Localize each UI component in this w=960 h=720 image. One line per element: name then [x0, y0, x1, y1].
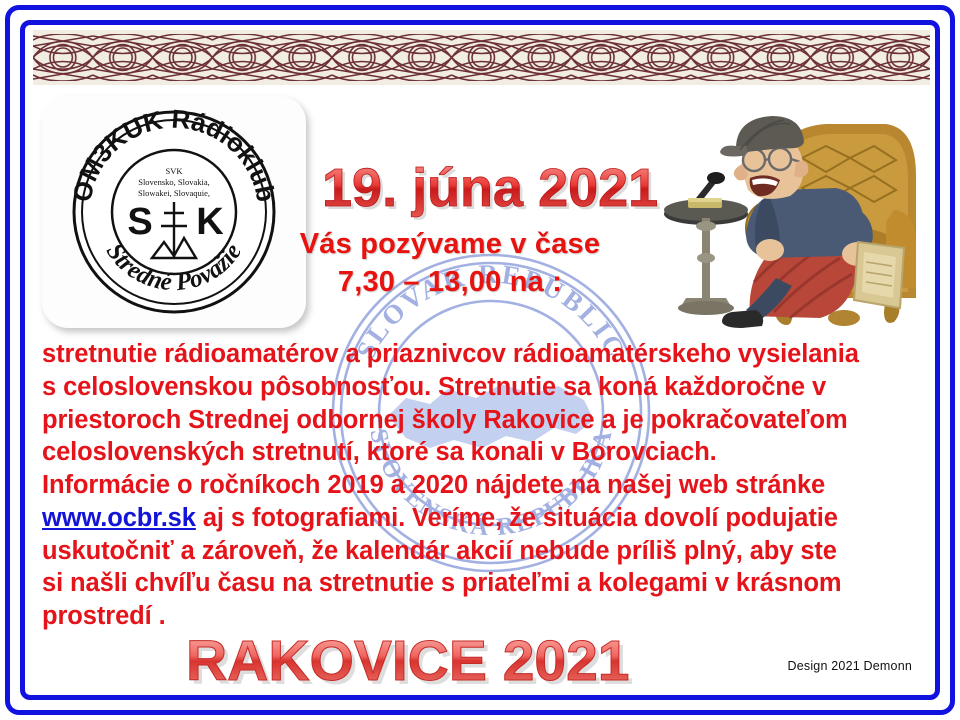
body-line: uskutočniť a zároveň, že kalendár akcií …	[42, 535, 930, 568]
body-text-segment: si našli chvíľu času na stretnutie s pri…	[42, 569, 842, 597]
svg-text:SVK: SVK	[165, 166, 183, 176]
body-text-segment: s celoslovenskou pôsobnosťou. Stretnutie…	[42, 373, 826, 401]
website-link[interactable]: www.ocbr.sk	[42, 504, 196, 532]
ornamental-border-band	[33, 30, 930, 85]
invitation-time-text: Vás pozývame v čase 7,30 – 13,00 na :	[190, 226, 710, 301]
event-name-title: RAKOVICE 2021 RAKOVICE 2021	[180, 628, 800, 690]
svg-text:RAKOVICE 2021: RAKOVICE 2021	[186, 629, 630, 690]
body-line: celoslovenských stretnutí, ktoré sa kona…	[42, 436, 930, 469]
svg-text:Slovensko, Slovakia,: Slovensko, Slovakia,	[138, 177, 210, 187]
body-text-segment: Informácie o ročníkoch 2019 a 2020 nájde…	[42, 471, 825, 499]
body-text-segment: prostredí .	[42, 602, 166, 630]
event-description-text: stretnutie rádioamatérov a priaznivcov r…	[42, 338, 930, 633]
body-text-segment: stretnutie rádioamatérov a priaznivcov r…	[42, 340, 859, 368]
poster-root: OM3KUK Rádioklub Stredné Považie SVK Slo…	[0, 0, 960, 720]
body-line: si našli chvíľu času na stretnutie s pri…	[42, 567, 930, 600]
body-text-segment: uskutočniť a zároveň, že kalendár akcií …	[42, 537, 837, 565]
svg-text:S: S	[127, 201, 152, 243]
armchair-radio-amateur-illustration	[650, 102, 930, 342]
body-line: www.ocbr.sk aj s fotografiami. Veríme, ž…	[42, 502, 930, 535]
body-text-segment: aj s fotografiami. Veríme, že situácia d…	[196, 504, 838, 532]
svg-text:19. júna 2021: 19. júna 2021	[322, 158, 658, 218]
poster-canvas: OM3KUK Rádioklub Stredné Považie SVK Slo…	[30, 30, 930, 690]
body-text-segment: celoslovenských stretnutí, ktoré sa kona…	[42, 438, 717, 466]
design-credit: Design 2021 Demonn	[787, 659, 912, 673]
body-line: stretnutie rádioamatérov a priaznivcov r…	[42, 338, 930, 371]
body-line: priestoroch Strednej odbornej školy Rako…	[42, 404, 930, 437]
svg-text:Slowakei, Slovaquie,: Slowakei, Slovaquie,	[138, 188, 210, 198]
body-line: Informácie o ročníkoch 2019 a 2020 nájde…	[42, 469, 930, 502]
body-text-segment: priestoroch Strednej odbornej školy Rako…	[42, 406, 848, 434]
body-line: s celoslovenskou pôsobnosťou. Stretnutie…	[42, 371, 930, 404]
